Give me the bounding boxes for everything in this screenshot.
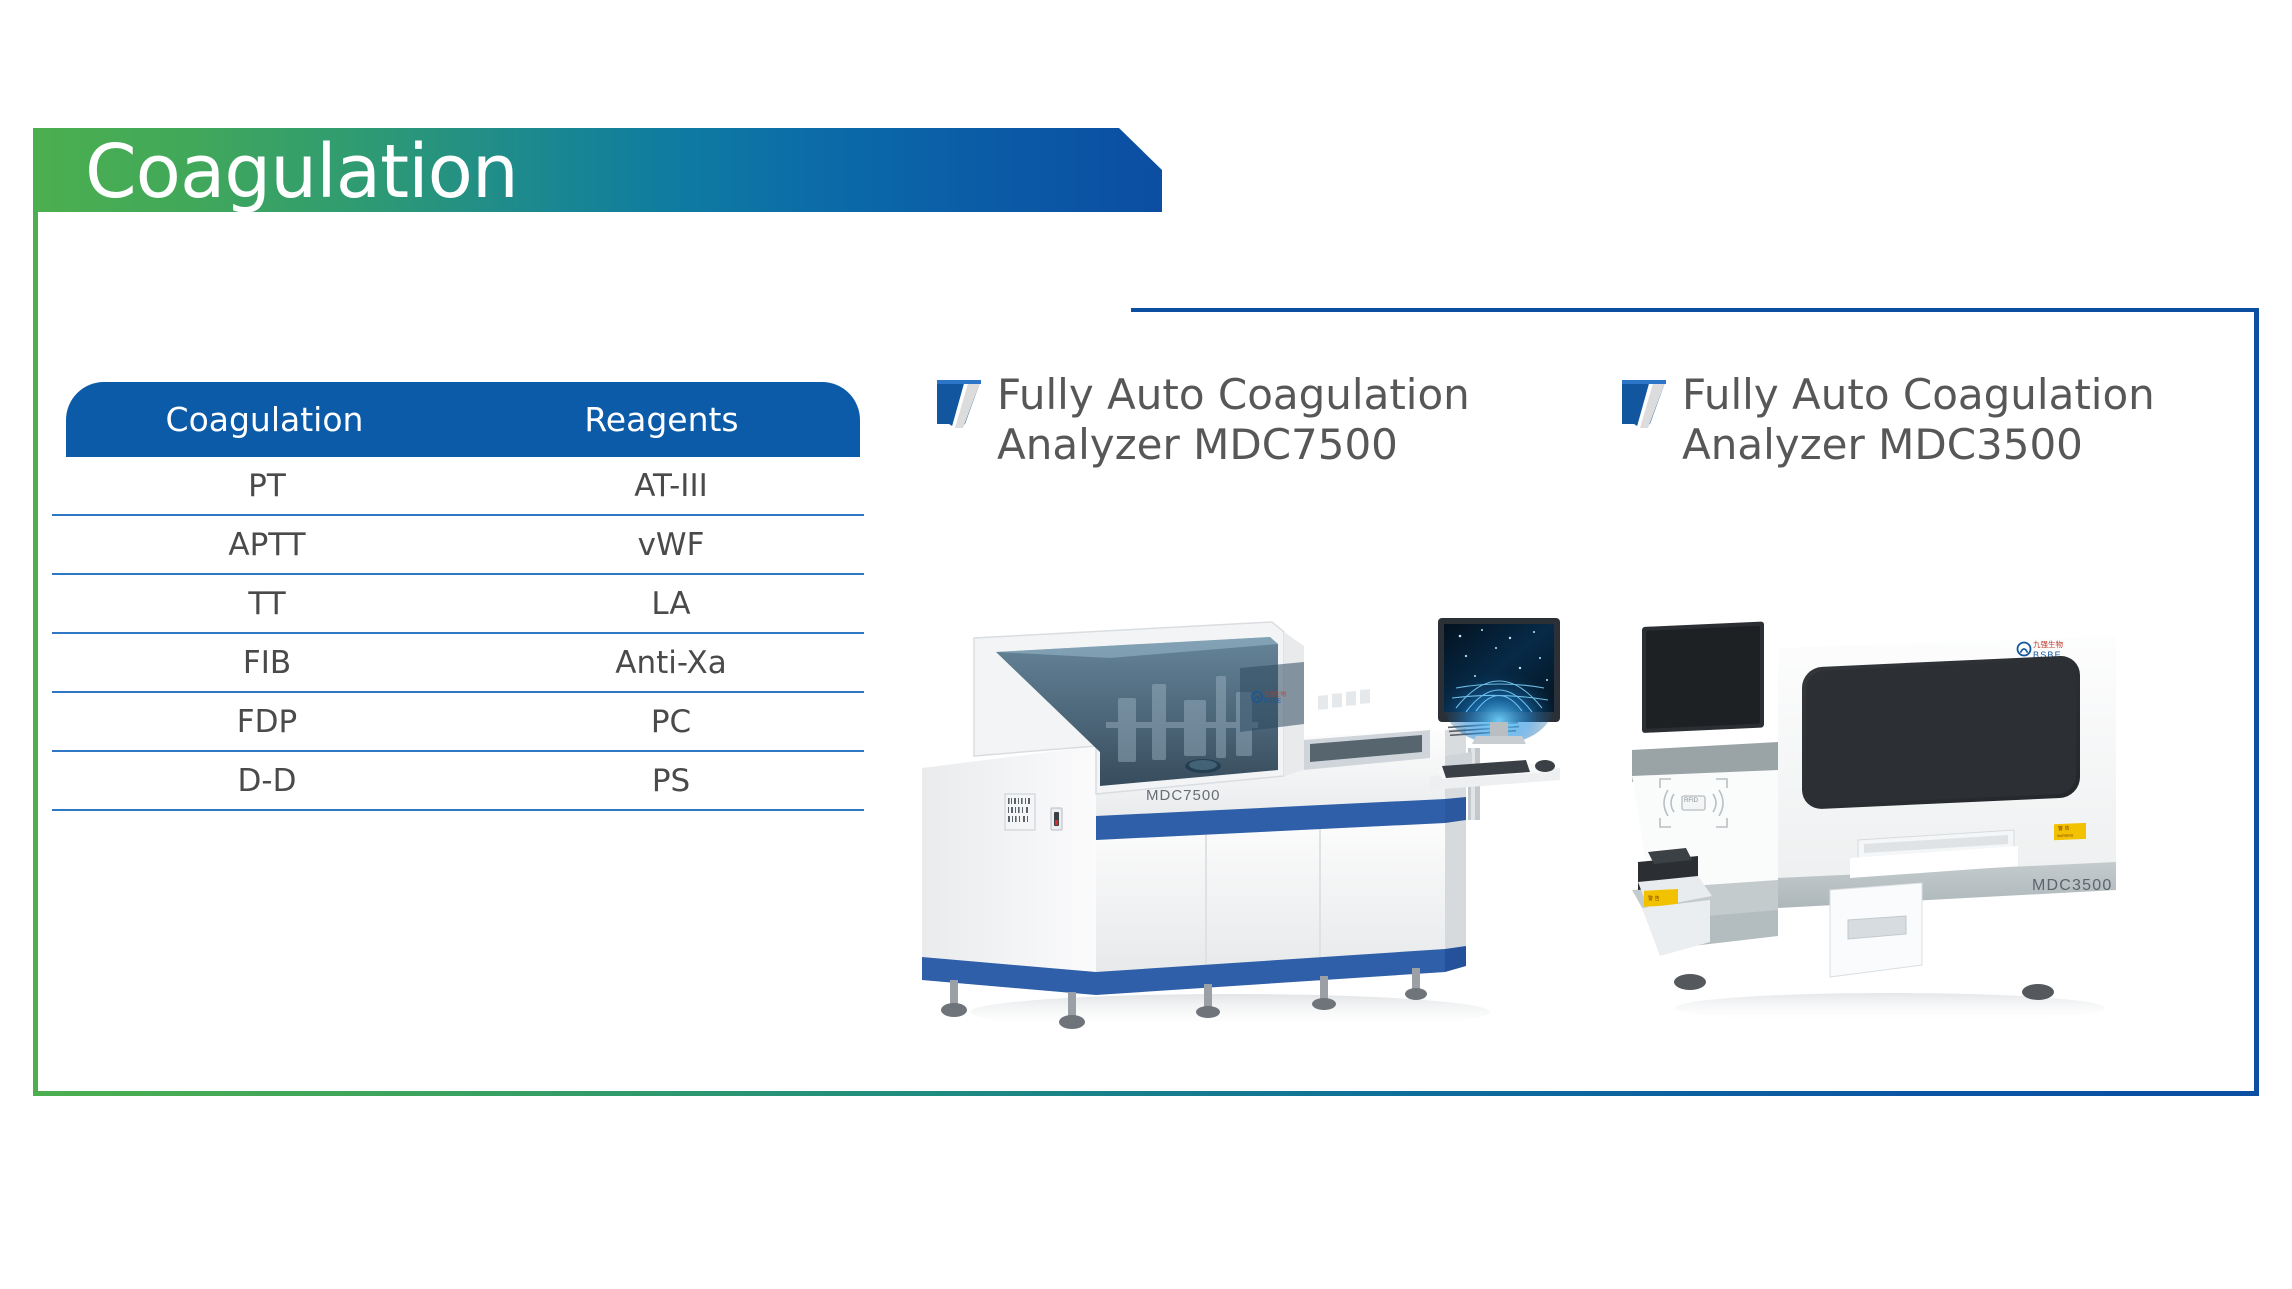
table-row: D-D PS bbox=[52, 752, 864, 811]
svg-text:RFID: RFID bbox=[1684, 798, 1699, 804]
cell-reagents: Anti-Xa bbox=[468, 634, 874, 691]
table-row: FDP PC bbox=[52, 693, 864, 752]
svg-text:九强生物: 九强生物 bbox=[2033, 639, 2063, 649]
table-row: APTT vWF bbox=[52, 516, 864, 575]
svg-text:九强生物: 九强生物 bbox=[1264, 690, 1287, 698]
table-header-reagents: Reagents bbox=[463, 382, 860, 457]
card-border-right bbox=[2254, 308, 2259, 1096]
svg-text:警 告: 警 告 bbox=[2058, 825, 2070, 833]
flag-marker-icon bbox=[935, 378, 991, 434]
machine-image-mdc3500: RFID 警 告 九强生物 BSBE 警 告 WARNING bbox=[1620, 590, 2160, 1040]
card-border-top-right bbox=[1131, 308, 2259, 312]
table-row: FIB Anti-Xa bbox=[52, 634, 864, 693]
cell-reagents: PS bbox=[468, 752, 874, 809]
card-border-bottom bbox=[33, 1091, 2259, 1096]
machine-model-label: MDC3500 bbox=[2032, 877, 2112, 894]
cell-coagulation: APTT bbox=[64, 516, 470, 573]
cell-reagents: vWF bbox=[468, 516, 874, 573]
cell-coagulation: TT bbox=[64, 575, 470, 632]
table-header-row: Coagulation Reagents bbox=[66, 382, 860, 457]
card-border-left bbox=[33, 183, 38, 1096]
table-row: PT AT-III bbox=[52, 457, 864, 516]
cell-coagulation: PT bbox=[64, 457, 470, 514]
machine-image-mdc7500: MDC7500 bbox=[900, 580, 1600, 1050]
svg-text:WARNING: WARNING bbox=[2057, 833, 2074, 838]
svg-text:BSBE: BSBE bbox=[1264, 699, 1282, 705]
product-title: Fully Auto Coagulation Analyzer MDC3500 bbox=[1682, 370, 2242, 470]
cell-coagulation: FDP bbox=[64, 693, 470, 750]
cell-coagulation: D-D bbox=[64, 752, 470, 809]
cell-coagulation: FIB bbox=[64, 634, 470, 691]
table-row: TT LA bbox=[52, 575, 864, 634]
flag-marker-icon bbox=[1620, 378, 1676, 434]
cell-reagents: AT-III bbox=[468, 457, 874, 514]
cell-reagents: LA bbox=[468, 575, 874, 632]
svg-text:警 告: 警 告 bbox=[1648, 895, 1660, 902]
table-body: PT AT-III APTT vWF TT LA FIB Anti-Xa FDP… bbox=[52, 457, 864, 811]
cell-reagents: PC bbox=[468, 693, 874, 750]
page-title: Coagulation bbox=[85, 130, 518, 214]
machine-model-label: MDC7500 bbox=[1146, 787, 1221, 804]
table-header-coagulation: Coagulation bbox=[66, 382, 463, 457]
product-title: Fully Auto Coagulation Analyzer MDC7500 bbox=[997, 370, 1557, 470]
